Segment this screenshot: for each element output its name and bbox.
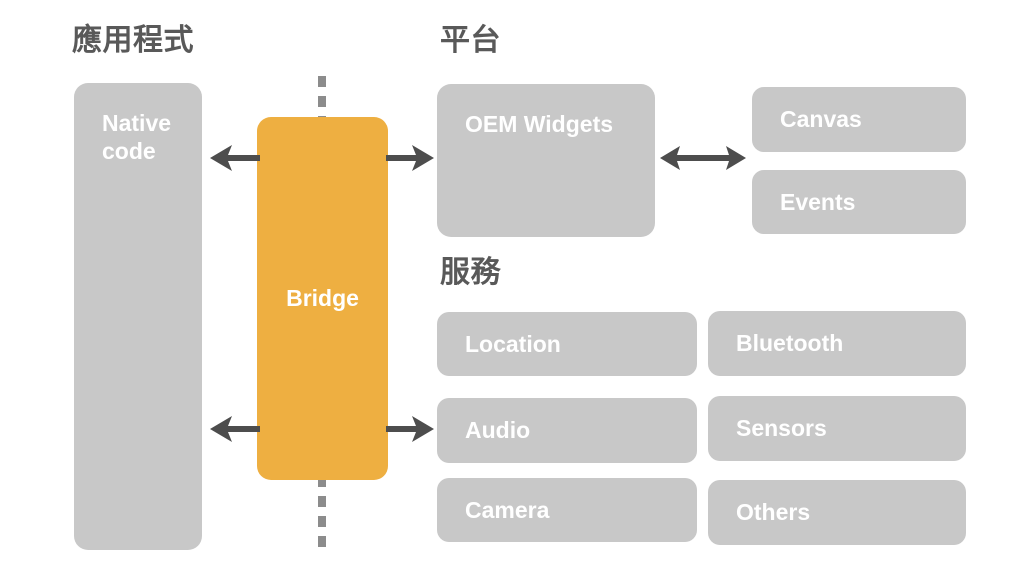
section-heading-services: 服務 — [440, 258, 501, 288]
section-heading-applications: 應用程式 — [72, 26, 194, 56]
arrow-double-icon-oem-canvas-events — [658, 140, 748, 176]
box-audio[interactable]: Audio — [437, 398, 697, 463]
box-oem-widgets[interactable]: OEM Widgets — [437, 84, 655, 237]
box-others[interactable]: Others — [708, 480, 966, 545]
box-sensors[interactable]: Sensors — [708, 396, 966, 461]
arrow-right-icon-bridge-oem — [386, 140, 436, 176]
box-native-code[interactable]: Native code — [74, 83, 202, 550]
box-location[interactable]: Location — [437, 312, 697, 376]
arrow-right-icon-bridge-services — [386, 411, 436, 447]
box-canvas[interactable]: Canvas — [752, 87, 966, 152]
box-events[interactable]: Events — [752, 170, 966, 234]
diagram-canvas: 應用程式 平台 服務 Native code Bridge OEM Widget… — [0, 0, 1024, 576]
box-bridge[interactable]: Bridge — [257, 117, 388, 480]
box-bluetooth[interactable]: Bluetooth — [708, 311, 966, 376]
box-camera[interactable]: Camera — [437, 478, 697, 542]
arrow-left-icon-native-bridge-bottom — [208, 411, 260, 447]
section-heading-platform: 平台 — [440, 26, 501, 56]
arrow-left-icon-native-bridge-top — [208, 140, 260, 176]
